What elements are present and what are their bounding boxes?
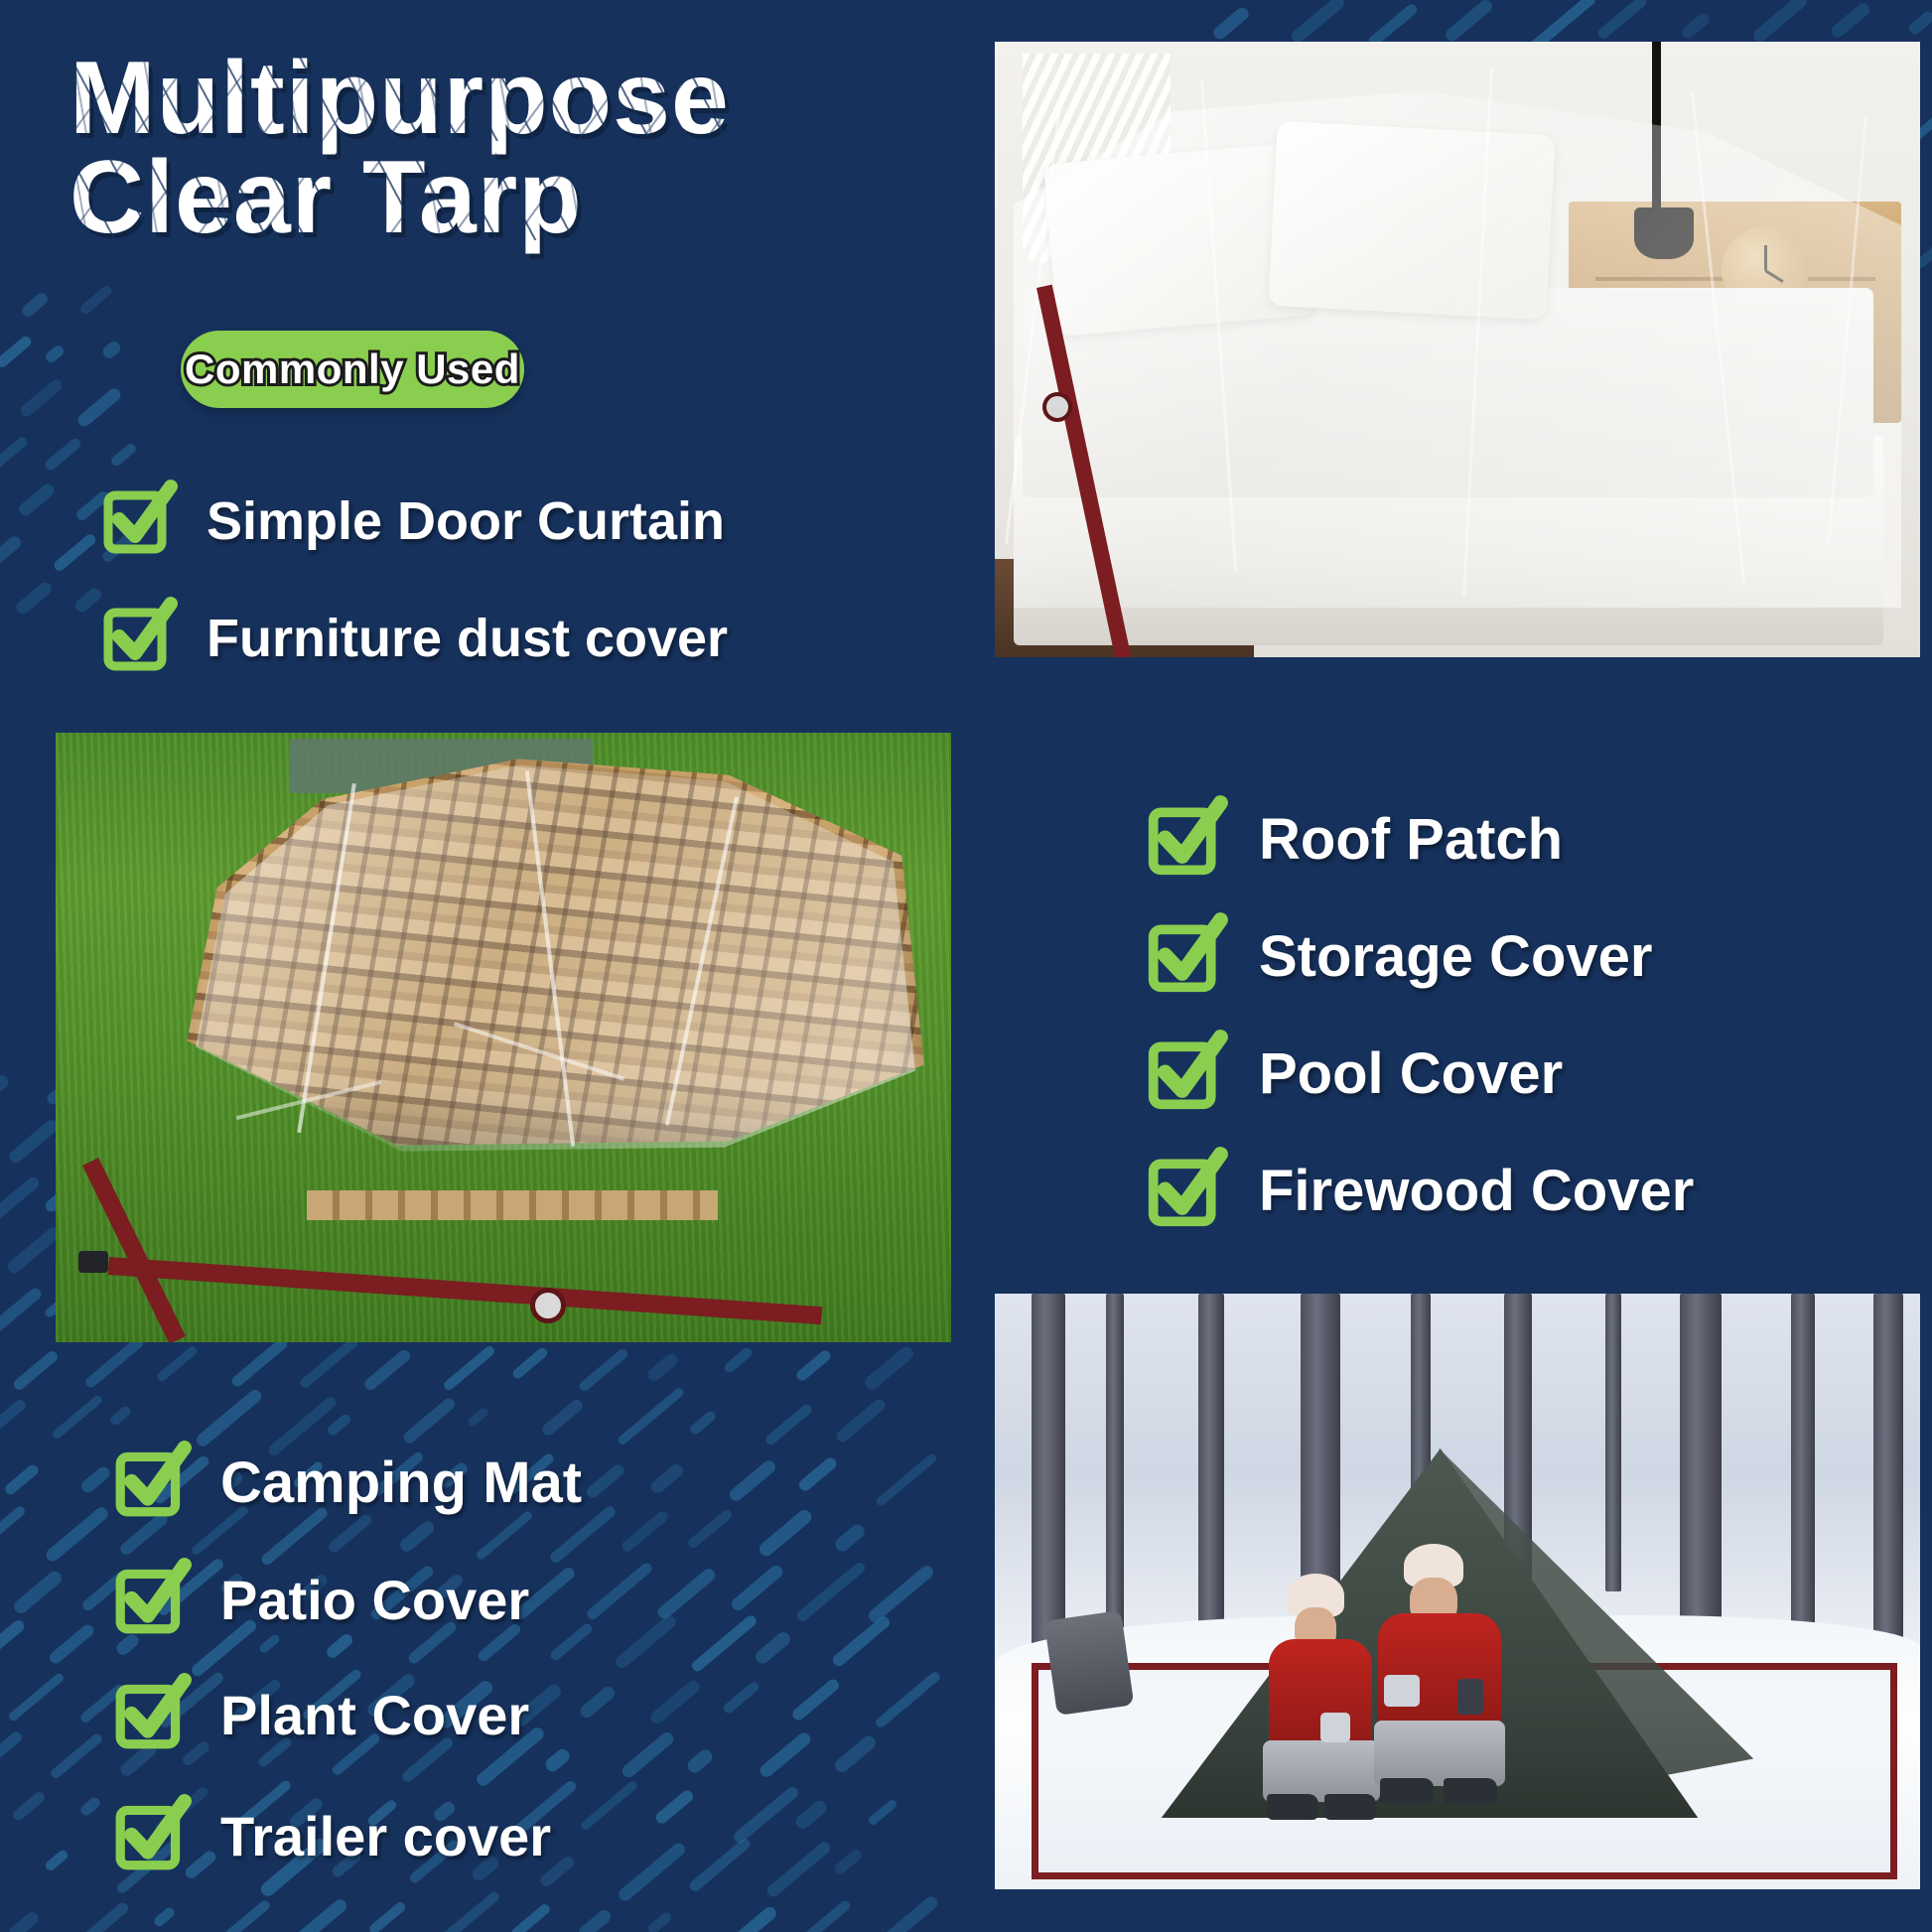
commonly-used-badge: Commonly Used <box>181 331 524 408</box>
title-line-1: Multipurpose <box>69 50 784 149</box>
badge-label: Commonly Used <box>185 345 520 393</box>
list-item-patio-cover: Patio Cover <box>111 1557 529 1643</box>
checkbox-checked-icon <box>99 479 179 563</box>
checkbox-checked-icon <box>1144 1146 1229 1236</box>
list-item-plant-cover: Plant Cover <box>111 1672 529 1758</box>
checkbox-checked-icon <box>1144 1029 1229 1119</box>
list-item-roof-patch: Roof Patch <box>1144 794 1563 885</box>
checkbox-checked-icon <box>111 1440 193 1526</box>
photo-bedroom-dust-cover <box>995 42 1920 657</box>
list-item-label: Simple Door Curtain <box>207 490 725 552</box>
list-item-furniture-dust-cover: Furniture dust cover <box>99 596 728 680</box>
checkbox-checked-icon <box>111 1557 193 1643</box>
list-item-label: Camping Mat <box>220 1449 582 1516</box>
photo-firewood-cover <box>56 733 951 1342</box>
list-item-label: Plant Cover <box>220 1683 529 1747</box>
list-item-label: Roof Patch <box>1259 806 1563 873</box>
infographic-canvas: Multipurpose Clear Tarp Commonly Used <box>0 0 1932 1932</box>
list-item-trailer-cover: Trailer cover <box>111 1793 551 1879</box>
page-title: Multipurpose Clear Tarp <box>69 50 784 248</box>
list-item-label: Patio Cover <box>220 1568 529 1632</box>
checkbox-checked-icon <box>111 1793 193 1879</box>
checkbox-checked-icon <box>99 596 179 680</box>
list-item-label: Furniture dust cover <box>207 608 728 669</box>
list-item-label: Storage Cover <box>1259 923 1652 990</box>
title-line-2: Clear Tarp <box>69 149 784 248</box>
checkbox-checked-icon <box>111 1672 193 1758</box>
list-item-label: Pool Cover <box>1259 1040 1563 1107</box>
list-item-label: Trailer cover <box>220 1804 551 1868</box>
photo-snow-camping-shelter <box>995 1294 1920 1889</box>
list-item-firewood-cover: Firewood Cover <box>1144 1146 1694 1236</box>
list-item-camping-mat: Camping Mat <box>111 1440 582 1526</box>
list-item-label: Firewood Cover <box>1259 1158 1694 1224</box>
diagonal-slash-texture-left <box>0 298 79 616</box>
checkbox-checked-icon <box>1144 794 1229 885</box>
checkbox-checked-icon <box>1144 911 1229 1002</box>
list-item-pool-cover: Pool Cover <box>1144 1029 1563 1119</box>
list-item-simple-door-curtain: Simple Door Curtain <box>99 479 725 563</box>
list-item-storage-cover: Storage Cover <box>1144 911 1652 1002</box>
